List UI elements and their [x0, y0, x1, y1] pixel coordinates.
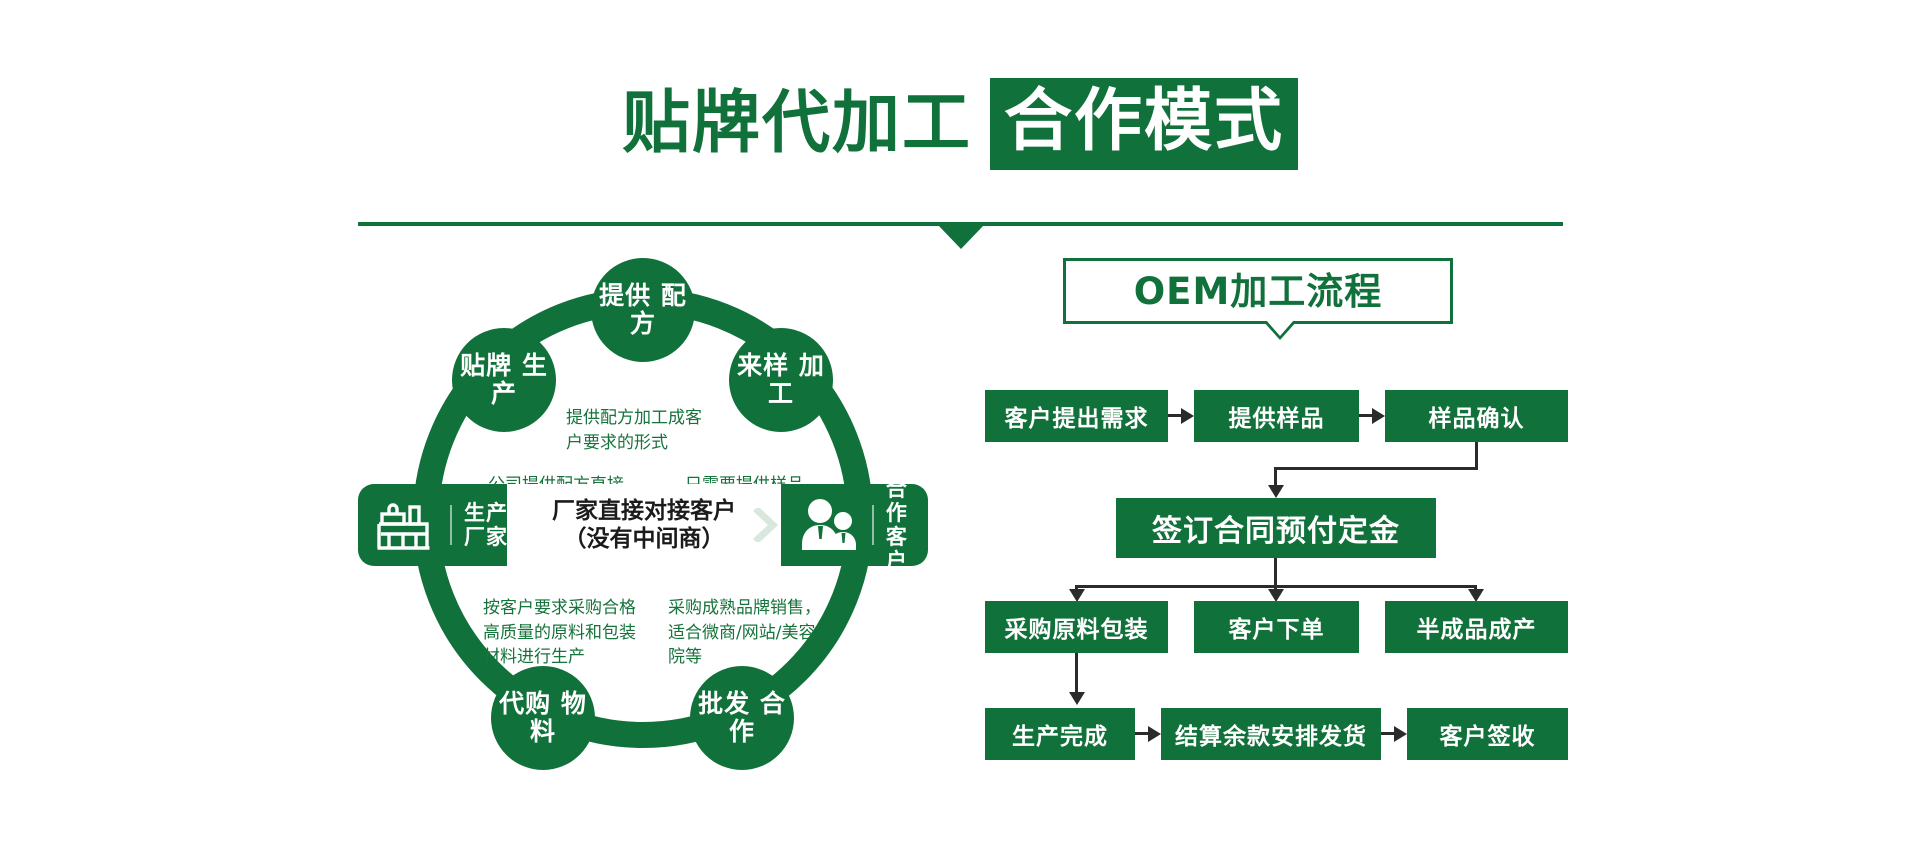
cycle-node-material-buying[interactable]: 代购 物料 — [491, 666, 595, 770]
cooperation-cycle-diagram: 提供配方加工成客 户要求的形式 公司提供配方直接 供应市场需要的产品 只需要提供… — [358, 258, 928, 778]
arrow-b8-b9 — [1148, 726, 1161, 742]
customers-side-block: 合作 客户 — [798, 484, 928, 566]
arrow-b1-b2 — [1181, 408, 1194, 424]
cycle-description-top: 提供配方加工成客 户要求的形式 — [566, 406, 702, 455]
flow-box-provide-sample[interactable]: 提供样品 — [1194, 390, 1359, 442]
oem-process-flowchart: OEM加工流程 客户提出需求 提供样品 样品确认 签订合同预付定金 采购原料包装… — [985, 258, 1575, 778]
flow-box-sign-contract-deposit[interactable]: 签订合同预付定金 — [1116, 498, 1436, 558]
direct-deal-callout: 厂家直接对接客户 （没有中间商） — [507, 484, 781, 566]
customers-divider — [872, 505, 874, 545]
page-title: 贴牌代加工 合作模式 — [0, 78, 1920, 170]
factory-divider — [450, 505, 452, 545]
factory-label: 生产 厂家 — [464, 501, 508, 549]
customers-label: 合作 客户 — [886, 477, 928, 574]
cycle-node-oem-production[interactable]: 贴牌 生产 — [452, 328, 556, 432]
customers-icon — [798, 496, 860, 554]
arrow-b9-b10 — [1394, 726, 1407, 742]
page-title-plain: 贴牌代加工 — [622, 90, 972, 158]
cycle-node-sample-process[interactable]: 来样 加工 — [729, 328, 833, 432]
oem-badge-notch-inner — [1266, 320, 1294, 336]
direct-deal-text: 厂家直接对接客户 （没有中间商） — [552, 497, 736, 553]
factory-icon — [376, 496, 438, 554]
arrow-b2-b3 — [1372, 408, 1385, 424]
flow-box-settle-and-ship[interactable]: 结算余款安排发货 — [1161, 708, 1381, 760]
factory-to-customer-bar: 生产 厂家 厂家直接对接客户 （没有中间商） — [358, 484, 928, 566]
oem-flow-title: OEM加工流程 — [1134, 273, 1383, 310]
cycle-description-bottom-right: 采购成熟品牌销售， 适合微商/网站/美容 院等 — [668, 596, 821, 670]
flow-box-semi-finished[interactable]: 半成品成产 — [1385, 601, 1568, 653]
arrow-into-b8 — [1069, 692, 1085, 705]
page-title-highlight: 合作模式 — [990, 78, 1298, 170]
cycle-description-bottom-left: 按客户要求采购合格 高质量的原料和包装 材料进行生产 — [483, 596, 636, 670]
flow-box-customer-order[interactable]: 客户下单 — [1194, 601, 1359, 653]
connector-b3-down — [1475, 442, 1478, 470]
chevron-right-icon-right — [753, 508, 783, 542]
connector-b4-down — [1274, 558, 1277, 588]
flow-box-production-done[interactable]: 生产完成 — [985, 708, 1135, 760]
page-root: 贴牌代加工 合作模式 提供配方加工成客 户要求的形式 公司提供配方直接 供应市场… — [0, 0, 1920, 857]
factory-side-block: 生产 厂家 — [376, 484, 508, 566]
connector-b5-b8 — [1075, 653, 1078, 695]
flow-box-customer-receipt[interactable]: 客户签收 — [1407, 708, 1568, 760]
arrow-into-b4 — [1268, 485, 1284, 498]
section-divider — [358, 222, 1563, 248]
flow-box-customer-request[interactable]: 客户提出需求 — [985, 390, 1168, 442]
flow-box-sample-confirm[interactable]: 样品确认 — [1385, 390, 1568, 442]
flow-box-purchase-materials[interactable]: 采购原料包装 — [985, 601, 1168, 653]
cycle-node-wholesale[interactable]: 批发 合作 — [690, 666, 794, 770]
connector-b3-across — [1274, 467, 1478, 470]
divider-notch-triangle-icon — [938, 225, 984, 249]
cycle-node-supply-formula[interactable]: 提供 配方 — [591, 258, 695, 362]
oem-flow-title-badge: OEM加工流程 — [1063, 258, 1453, 324]
